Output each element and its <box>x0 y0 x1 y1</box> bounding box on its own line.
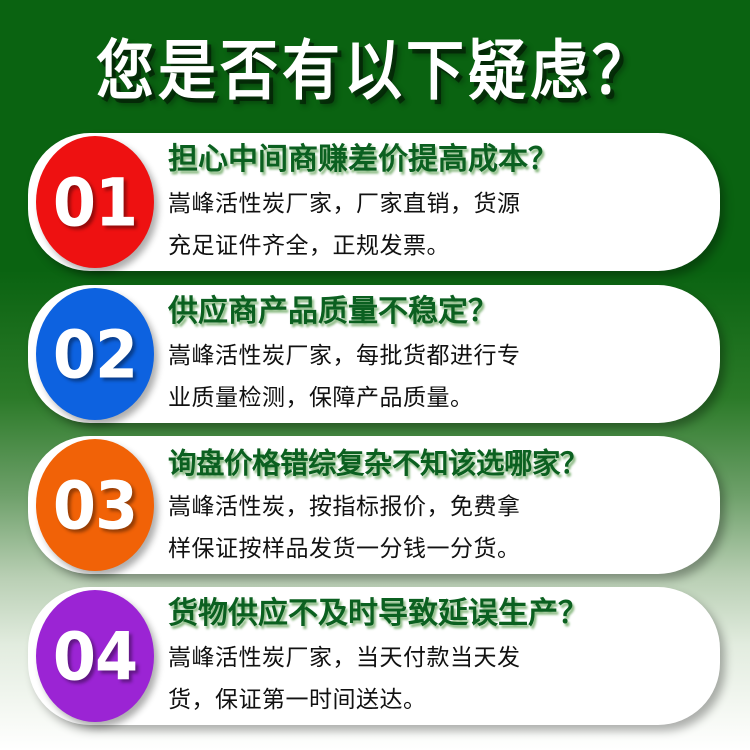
card-heading: 询盘价格错综复杂不知该选哪家？ <box>168 440 706 486</box>
page-title: 您是否有以下疑虑？ <box>96 18 654 112</box>
card-heading: 担心中间商赚差价提高成本？ <box>168 137 706 183</box>
card-body: 担心中间商赚差价提高成本？ 嵩峰活性炭厂家，厂家直销，货源 充足证件齐全，正规发… <box>168 137 706 267</box>
faq-card[interactable]: 04 货物供应不及时导致延误生产？ 嵩峰活性炭厂家，当天付款当天发 货，保证第一… <box>28 587 720 725</box>
card-text-line: 嵩峰活性炭厂家，厂家直销，货源 <box>168 183 706 225</box>
card-text-line: 嵩峰活性炭，按指标报价，免费拿 <box>168 486 706 528</box>
card-number-label: 02 <box>53 315 137 392</box>
card-body: 供应商产品质量不稳定？ 嵩峰活性炭厂家，每批货都进行专 业质量检测，保障产品质量… <box>168 289 706 419</box>
card-heading: 货物供应不及时导致延误生产？ <box>168 591 706 637</box>
card-number-label: 04 <box>53 617 137 694</box>
faq-card[interactable]: 01 担心中间商赚差价提高成本？ 嵩峰活性炭厂家，厂家直销，货源 充足证件齐全，… <box>28 133 720 271</box>
faq-card[interactable]: 03 询盘价格错综复杂不知该选哪家？ 嵩峰活性炭，按指标报价，免费拿 样保证按样… <box>28 436 720 574</box>
card-number-badge: 02 <box>36 288 154 420</box>
card-text-line: 货，保证第一时间送达。 <box>168 679 706 721</box>
promo-banner: 您是否有以下疑虑？ 01 担心中间商赚差价提高成本？ 嵩峰活性炭厂家，厂家直销，… <box>0 0 750 750</box>
faq-card[interactable]: 02 供应商产品质量不稳定？ 嵩峰活性炭厂家，每批货都进行专 业质量检测，保障产… <box>28 285 720 423</box>
card-number-label: 03 <box>53 466 137 543</box>
card-number-label: 01 <box>53 163 137 240</box>
card-text-line: 业质量检测，保障产品质量。 <box>168 377 706 419</box>
card-text-line: 嵩峰活性炭厂家，每批货都进行专 <box>168 335 706 377</box>
card-body: 货物供应不及时导致延误生产？ 嵩峰活性炭厂家，当天付款当天发 货，保证第一时间送… <box>168 591 706 721</box>
title-band: 您是否有以下疑虑？ <box>0 0 750 130</box>
card-number-badge: 04 <box>36 590 154 722</box>
card-body: 询盘价格错综复杂不知该选哪家？ 嵩峰活性炭，按指标报价，免费拿 样保证按样品发货… <box>168 440 706 570</box>
card-heading: 供应商产品质量不稳定？ <box>168 289 706 335</box>
card-text-line: 嵩峰活性炭厂家，当天付款当天发 <box>168 637 706 679</box>
card-number-badge: 03 <box>36 439 154 571</box>
card-number-badge: 01 <box>36 136 154 268</box>
card-text-line: 充足证件齐全，正规发票。 <box>168 225 706 267</box>
card-text-line: 样保证按样品发货一分钱一分货。 <box>168 528 706 570</box>
